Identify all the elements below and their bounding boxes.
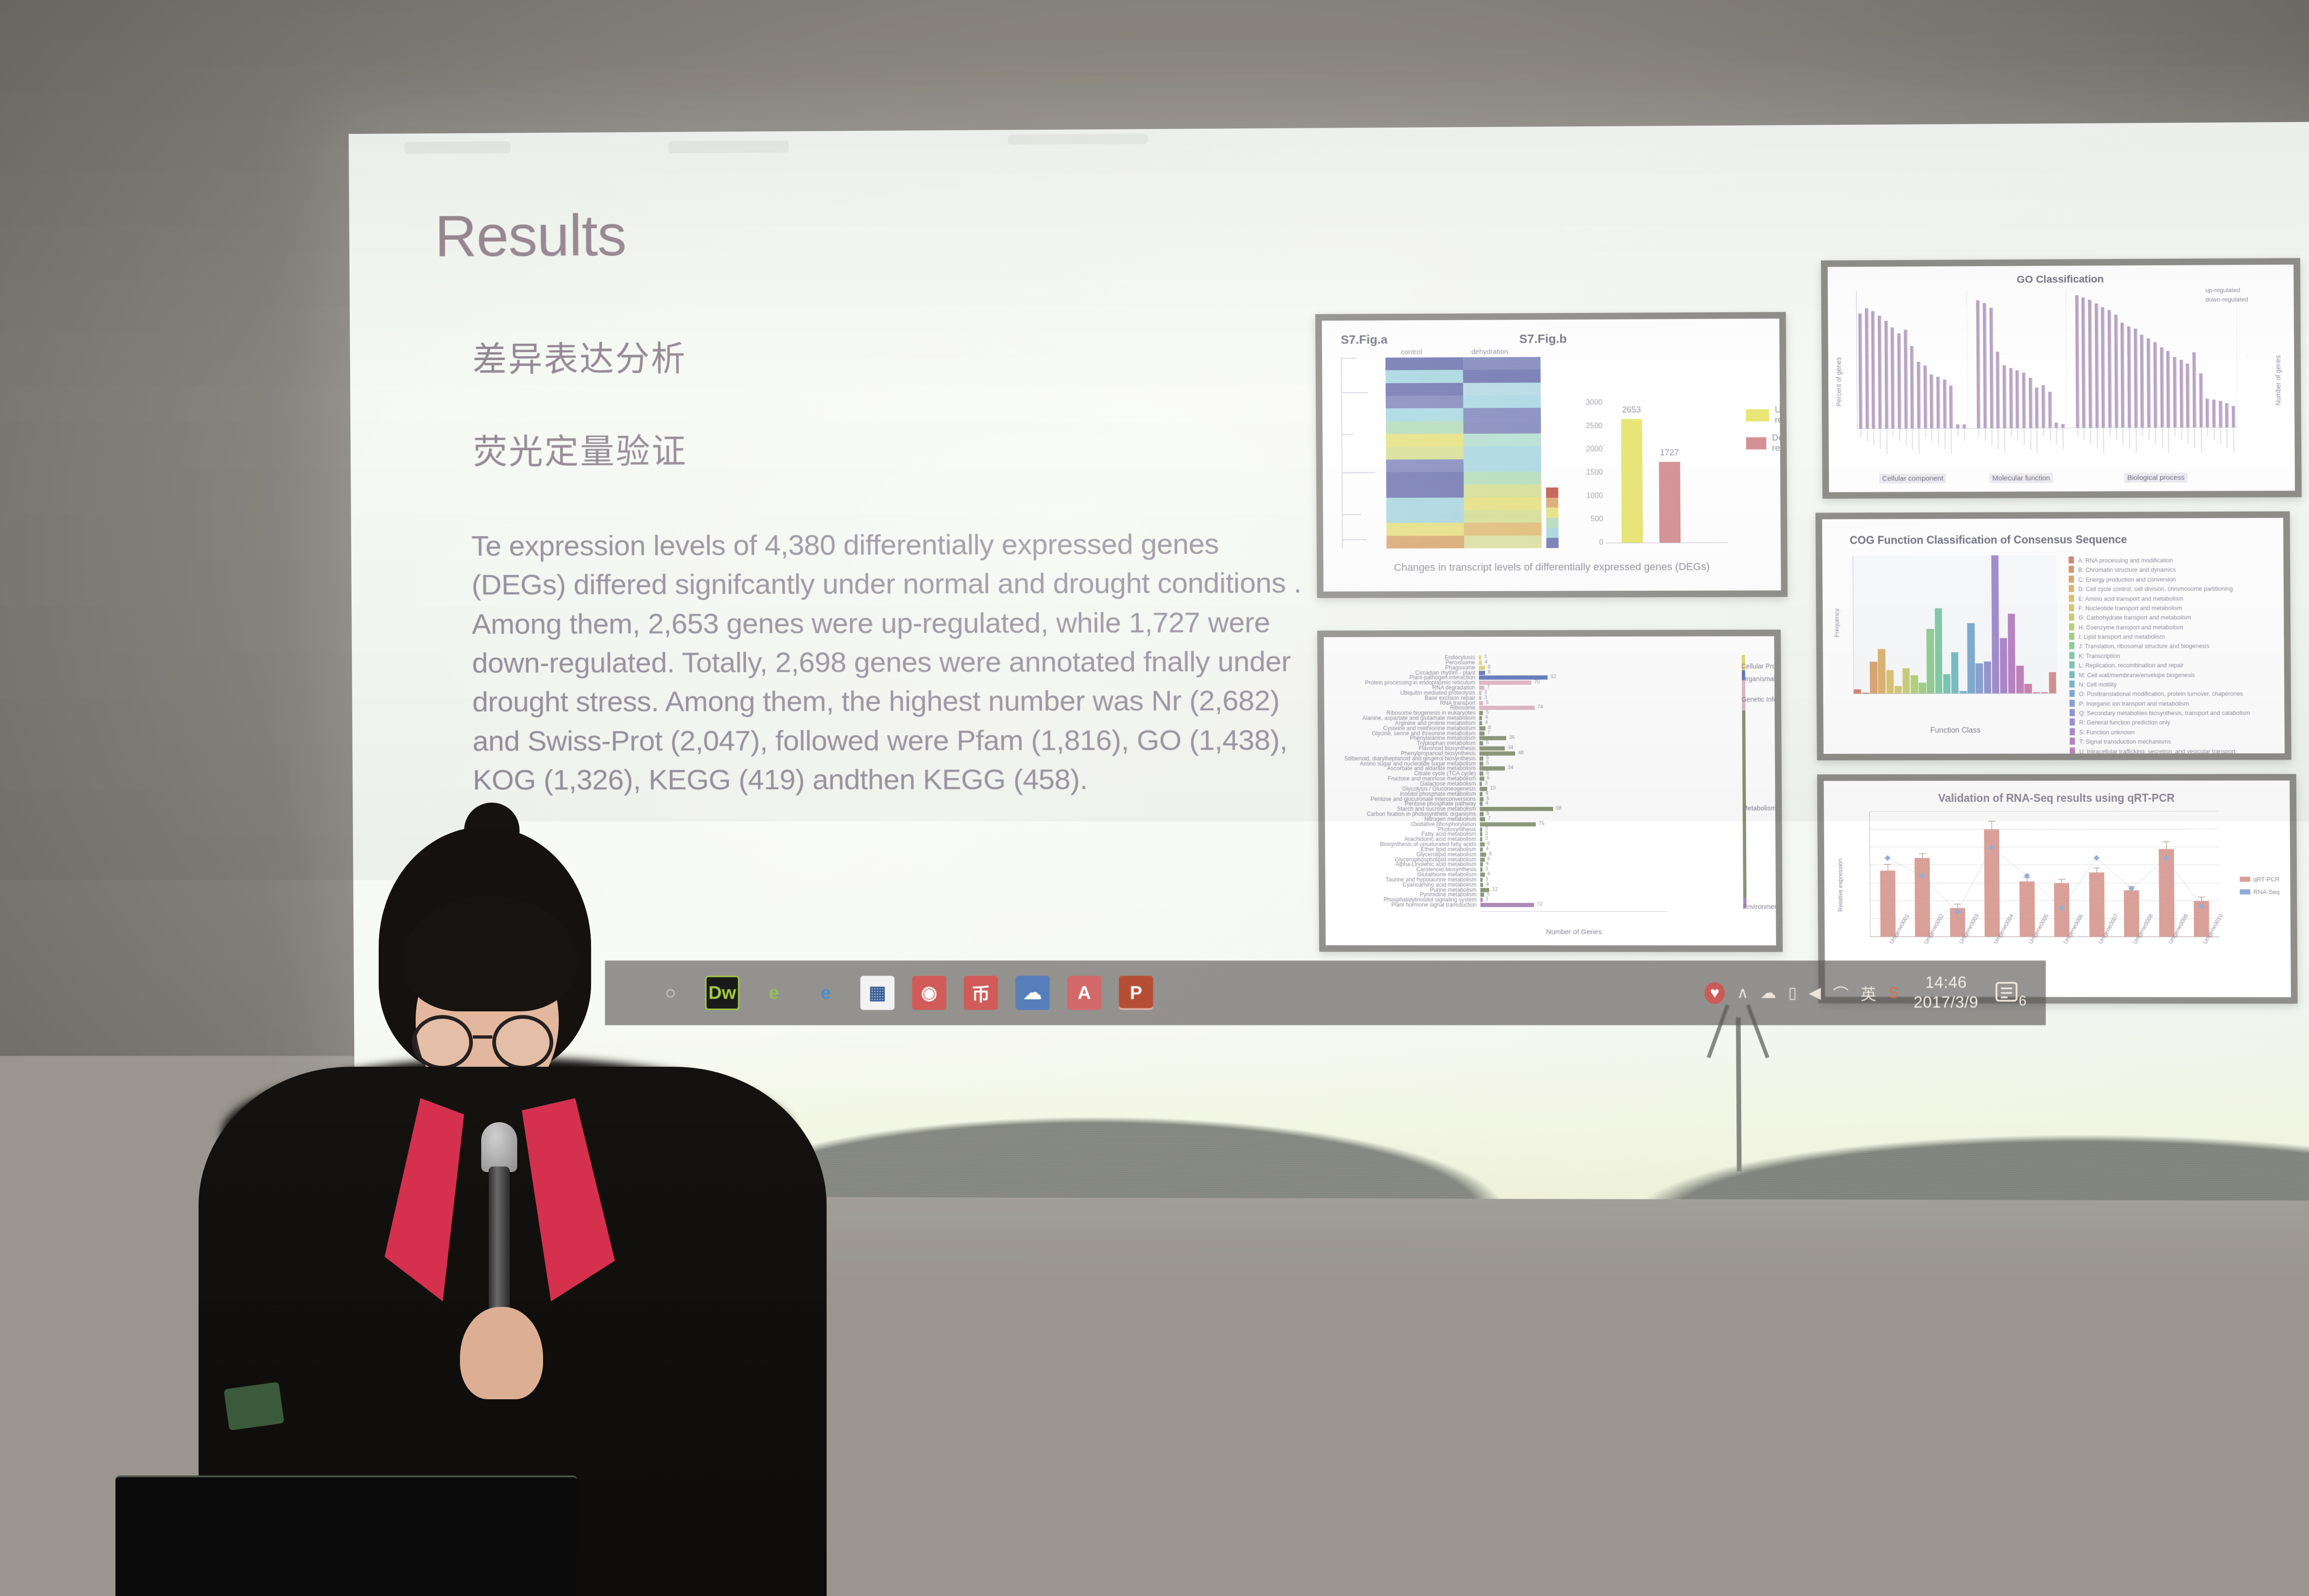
go-bar (2042, 385, 2045, 428)
go-group: Biological process (2073, 289, 2237, 428)
deg-bar: 1727 (1659, 462, 1680, 543)
kegg-row-value: 4 (1486, 791, 1488, 796)
glasses-right-lens (492, 1015, 553, 1070)
cog-y-axis-label: Frequency (1833, 608, 1840, 637)
kegg-row: Glutathione metabolism6 (1480, 873, 1485, 877)
thermos-bottle (2111, 1468, 2185, 1596)
go-tick (2155, 427, 2156, 444)
kegg-row-value: 3 (1485, 826, 1488, 831)
cog-legend-swatch (2069, 575, 2074, 582)
taskbar-clock[interactable]: 14:46 2017/3/9 (1914, 973, 1978, 1012)
go-tick (2005, 428, 2005, 453)
pcr-error-bar (1922, 853, 1922, 858)
cog-legend-item: E: Amino acid transport and metabolism (2069, 594, 2249, 604)
go-bar (1983, 303, 1987, 428)
laptop-lid (115, 1475, 577, 1596)
cog-legend-item: A: RNA processing and modification (2068, 556, 2249, 566)
cog-legend-label: J: Translation, ribosomal structure and … (2079, 641, 2209, 651)
heatmap-cell (1385, 370, 1463, 383)
cog-legend-swatch (2069, 709, 2074, 716)
heartbeat-icon[interactable]: ♥ (1705, 982, 1725, 1004)
pcr-error-cap (1884, 864, 1891, 864)
cog-bar (1854, 689, 1861, 694)
kegg-row-label: Fructose and mannose metabolism (1388, 775, 1476, 782)
kegg-row-value: 75 (1539, 821, 1545, 826)
kegg-row-label: Amino sugar and nucleotide sugar metabol… (1360, 760, 1476, 767)
cog-legend-label: U: Intracellular trafficking, secretion,… (2079, 747, 2236, 756)
go-bar (2232, 406, 2235, 427)
cog-legend-label: K: Transcription (2079, 651, 2120, 661)
pcr-gridline (1870, 918, 2219, 919)
pcr-error-bar (1992, 822, 1992, 829)
cog-bar (1927, 629, 1934, 693)
kegg-row: Carotenoid biosynthesis3 (1480, 868, 1482, 872)
heatmap-cell (1464, 523, 1541, 536)
kegg-row: Endocytosis3 (1479, 655, 1481, 659)
go-tick (1951, 428, 1952, 453)
cog-bar (2008, 614, 2016, 693)
pcr-legend-label: RNA-Seq (2254, 889, 2280, 895)
kegg-row: Circadian rhythm - plant8 (1479, 671, 1485, 675)
kegg-row-label: Biosynthesis of unsaturated fatty acids (1380, 841, 1476, 847)
go-bar (1923, 366, 1927, 428)
go-tick (1978, 428, 1979, 436)
deg-bar-value: 2653 (1622, 405, 1641, 415)
pcr-error-cap (2058, 879, 2065, 879)
kegg-category-label: Environmental Information Processing (1743, 903, 1783, 910)
kegg-row-value: 7 (1487, 684, 1490, 690)
slide-decoration-tree (1736, 1017, 1741, 1172)
hand (460, 1307, 543, 1399)
go-bar (1949, 386, 1953, 428)
sogou-icon[interactable]: S (1888, 984, 1899, 1002)
go-tick (1945, 428, 1945, 449)
kegg-row: Pyrimidine metabolism5 (1481, 893, 1484, 897)
go-tick (2227, 427, 2227, 448)
pcr-data-point (1885, 855, 1891, 861)
powerpoint-icon[interactable]: P (1119, 976, 1153, 1010)
go-tick (2136, 428, 2136, 453)
go-tick (2024, 428, 2025, 445)
cog-legend-label: I: Lipid transport and metabolism (2079, 632, 2165, 642)
cog-bar (1862, 692, 1869, 693)
cog-legend-swatch (2069, 661, 2074, 668)
go-bar (1884, 321, 1888, 429)
pcr-legend-item: qRT-PCR (2240, 876, 2280, 883)
cog-legend-swatch (2069, 652, 2074, 659)
kegg-row-label: Peroxisome (1445, 659, 1475, 665)
kegg-row-label: Ubiquitin mediated proteolysis (1400, 689, 1475, 696)
kegg-row-value: 3 (1485, 831, 1488, 836)
battery-icon[interactable]: ▯ (1788, 984, 1797, 1002)
kegg-row-label: Glycolysis / Gluconeogenesis (1402, 786, 1476, 792)
kegg-row-value: 3 (1484, 654, 1487, 659)
pcr-legend-swatch (2240, 889, 2250, 895)
heatmap-cell (1463, 421, 1541, 434)
heatmap-col-dehydration: dehydration (1471, 348, 1508, 356)
go-tick (2168, 427, 2169, 453)
deg-y-tick: 2000 (1586, 445, 1602, 453)
deg-bar-chart: 050010001500200025003000 26531727 (1604, 403, 1728, 543)
kegg-row: Alpha-Linolenic acid metabolism4 (1480, 863, 1483, 867)
cog-legend-swatch (2069, 633, 2074, 640)
kegg-row: Tryptophan metabolism5 (1479, 741, 1483, 745)
kegg-row-value: 3 (1486, 896, 1488, 902)
pcr-bar (2194, 901, 2210, 937)
kegg-row: Fructose and mannose metabolism6 (1480, 777, 1484, 781)
kegg-category-bar (1742, 655, 1745, 670)
go-section-label: Molecular function (1989, 473, 2053, 484)
go-tick (2149, 428, 2149, 440)
kegg-row: Taurine and hypotaurine metabolism3 (1480, 878, 1482, 882)
go-tick (2129, 428, 2130, 449)
clock-time: 14:46 (1914, 973, 1978, 993)
heatmap-cell (1386, 472, 1464, 485)
pcr-chart-legend: qRT-PCRRNA-Seq (2240, 876, 2280, 901)
kegg-row-value: 5 (1487, 891, 1490, 897)
cog-legend-item: K: Transcription (2069, 651, 2250, 661)
cog-bar (2000, 638, 2007, 694)
pcr-bar (2019, 881, 2035, 937)
go-tick (2188, 427, 2188, 444)
kegg-row-value: 10 (1490, 786, 1496, 791)
wps-icon[interactable]: 币 (964, 976, 998, 1010)
pcr-gridline (1870, 883, 2219, 883)
go-bar (1943, 380, 1946, 429)
weather-icon[interactable]: ☁ (1015, 976, 1050, 1010)
notification-center-icon[interactable]: 6 (1993, 979, 2020, 1006)
cog-chart-legend: A: RNA processing and modificationB: Chr… (2068, 556, 2250, 761)
go-tick (2043, 428, 2044, 436)
cog-legend-label: L: Replication, recombination and repair (2079, 661, 2183, 671)
go-tick (2090, 428, 2091, 445)
heatmap-cell (1386, 421, 1463, 434)
go-section-label: Biological process (2124, 473, 2188, 483)
kegg-row-value: 5 (1486, 770, 1489, 776)
ime-cn-icon[interactable]: 英 (1861, 982, 1876, 1004)
kegg-row: Biosynthesis of unsaturated fatty acids6 (1480, 842, 1485, 846)
cog-bar (1903, 668, 1910, 693)
go-tick (2123, 428, 2123, 445)
kegg-row: Alanine, aspartate and glutamate metabol… (1479, 716, 1482, 720)
pcr-y-axis-label: Relative expression (1837, 858, 1844, 912)
pcr-bar (1984, 829, 2000, 937)
cog-legend-swatch (2069, 595, 2074, 602)
heatmap-cell (1386, 484, 1464, 497)
kegg-row: Phenylpropanoid biosynthesis48 (1480, 751, 1516, 756)
cn-heading-fluorescence-quantification: 荧光定量验证 (473, 423, 687, 474)
go-tick (2142, 428, 2143, 436)
pcr-chart-title: Validation of RNA-Seq results using qRT-… (1824, 792, 2290, 805)
kegg-row-value: 3 (1484, 695, 1487, 700)
pcr-gridline (1870, 847, 2218, 847)
heatmap-cell (1463, 408, 1541, 421)
clock-date: 2017/3/9 (1914, 993, 1978, 1013)
kegg-row-label: RNA transport (1440, 700, 1475, 706)
heatmap-cell (1386, 536, 1464, 549)
cog-legend-swatch (2070, 747, 2075, 754)
go-chart-title: GO Classification (1828, 272, 2294, 286)
go-tick (2233, 427, 2234, 453)
kegg-row-value: 34 (1508, 745, 1514, 750)
go-bar (2048, 392, 2052, 428)
kegg-x-axis-label: Number of Genes (1481, 928, 1668, 936)
cog-legend-label: A: RNA processing and modification (2078, 556, 2173, 565)
netease-music-icon-glyph: ◉ (921, 982, 937, 1004)
deg-y-tick: 3000 (1586, 399, 1602, 407)
pcr-bar (2158, 849, 2174, 937)
pcr-gridline (1871, 936, 2219, 937)
cog-bar (1919, 683, 1926, 694)
go-bar (1930, 375, 1934, 428)
cog-legend-label: F: Nucleotide transport and metabolism (2079, 604, 2182, 613)
kegg-category-bar (1743, 898, 1747, 908)
cog-legend-label: V: Defense mechanisms (2079, 756, 2144, 761)
go-tick (2037, 428, 2037, 453)
cog-legend-label: Q: Secondary metabolites biosynthesis, t… (2079, 708, 2250, 718)
kegg-row-value: 5 (1487, 810, 1489, 816)
a-app-icon-glyph: A (1078, 983, 1091, 1004)
cog-legend-label: H: Coenzyme transport and metabolism (2079, 623, 2183, 632)
microsoft-store-icon-glyph: ▦ (869, 982, 886, 1004)
microsoft-store-icon[interactable]: ▦ (860, 976, 895, 1010)
heatmap-cell (1386, 459, 1463, 472)
kegg-row: Glycerophospholipid metabolism6 (1480, 858, 1485, 862)
pcr-error-cap (1988, 821, 1995, 822)
cog-chart-title: COG Function Classification of Consensus… (1850, 533, 2127, 547)
kegg-row: Ribosome74 (1479, 706, 1535, 710)
pcr-bar (1880, 871, 1896, 937)
cog-legend-item: L: Replication, recombination and repair (2069, 660, 2250, 670)
kegg-row-label: Arachidonic acid metabolism (1404, 836, 1476, 842)
go-bar (1910, 346, 1914, 429)
kegg-row-label: Arginine and proline metabolism (1395, 719, 1475, 726)
go-bar (2108, 310, 2112, 428)
kegg-row: Peroxisome4 (1479, 660, 1482, 665)
wps-icon-glyph: 币 (972, 979, 990, 1006)
go-bar (2193, 352, 2196, 427)
kegg-category-label: Organismal Systems (1741, 675, 1783, 683)
go-tick (1932, 428, 1932, 441)
kegg-row: Purine metabolism12 (1480, 888, 1489, 892)
cog-legend-swatch (2070, 728, 2075, 735)
cog-legend-swatch (2069, 700, 2074, 707)
kegg-row-value: 4 (1486, 800, 1488, 806)
kegg-row-value: 74 (1537, 704, 1543, 710)
deg-bar-value: 1727 (1660, 448, 1679, 458)
heatmap-cell (1464, 484, 1541, 497)
go-tick (1938, 428, 1939, 445)
kegg-row: Plant hormone signal transduction72 (1481, 903, 1534, 907)
netease-music-icon[interactable]: ◉ (912, 976, 946, 1010)
kegg-row-label: Tryptophan metabolism (1417, 740, 1475, 746)
kegg-row-label: Phenylpropanoid biosynthesis (1401, 750, 1475, 756)
go-bar (2003, 365, 2007, 428)
pcr-bar (1950, 908, 1965, 937)
kegg-row-label: Flavonoid biosynthesis (1419, 745, 1476, 751)
cog-bar (1976, 664, 1983, 693)
cog-bar (1870, 662, 1877, 694)
cog-legend-label: T: Signal transduction mechanisms (2079, 737, 2171, 747)
pcr-x-tick-label: Unigene0005 (2027, 913, 2050, 945)
pcr-error-cap (2128, 887, 2135, 887)
powerpoint-icon-glyph: P (1130, 983, 1142, 1004)
pcr-data-point (1954, 909, 1960, 915)
go-bar (2186, 363, 2190, 427)
kegg-row: Phenylalanine metabolism36 (1479, 736, 1506, 740)
pcr-legend-item: RNA-Seq (2240, 889, 2280, 895)
deg-legend-label: Down-regulated (1772, 433, 1788, 453)
kegg-row-label: Glycerophospholipid metabolism (1395, 856, 1476, 863)
go-bar (2114, 315, 2118, 428)
go-bar (2061, 424, 2065, 428)
go-bar (2212, 399, 2216, 427)
kegg-row-value: 48 (1518, 750, 1524, 756)
cog-bar (2033, 692, 2040, 693)
kegg-category-bar (1742, 711, 1747, 898)
a-app-icon[interactable]: A (1067, 976, 1101, 1010)
pcr-data-point (2199, 903, 2205, 909)
cog-legend-label: E: Amino acid transport and metabolism (2078, 594, 2183, 604)
go-bar (2127, 326, 2131, 428)
cog-bar (2041, 692, 2048, 693)
kegg-row-label: Stilbenoid, diarylheptanoid and gingerol… (1344, 755, 1475, 762)
go-tick (1925, 428, 1926, 436)
heatmap-cell (1464, 535, 1541, 548)
kegg-row: Ascorbate and aldarate metabolism34 (1480, 767, 1505, 771)
kegg-row-value: 8 (1488, 725, 1491, 730)
pcr-x-tick-label: Unigene0009 (2167, 913, 2189, 945)
pcr-x-tick-label: Unigene0007 (2097, 913, 2120, 945)
kegg-row: RNA degradation7 (1479, 686, 1484, 690)
heatmap-col-control: control (1401, 348, 1422, 356)
kegg-row-value: 6 (1487, 871, 1490, 877)
go-bar (1956, 424, 1959, 428)
kegg-row: Nitrogen metabolism7 (1480, 817, 1485, 821)
cog-legend-label: N: Cell motility (2079, 680, 2117, 689)
go-group: Cellular component (1856, 290, 1968, 429)
go-bar (2140, 335, 2144, 428)
cog-bar (1943, 674, 1951, 693)
volume-icon[interactable]: ◀ (1809, 984, 1821, 1002)
go-tick (2103, 428, 2104, 453)
kegg-row-label: Glycine, serine and threonine metabolism (1372, 730, 1476, 736)
kegg-row: Cyanoamino acid metabolism4 (1480, 883, 1483, 887)
go-tick (1874, 429, 1874, 445)
kegg-row-value: 3 (1485, 780, 1487, 786)
go-tick (2097, 428, 2097, 449)
heatmap-cell (1463, 459, 1541, 472)
go-tick (2201, 427, 2201, 453)
kegg-row: Cysteine and methionine metabolism8 (1479, 726, 1485, 730)
go-bar (2009, 368, 2013, 428)
cog-legend-item: O: Posttranslational modification, prote… (2069, 689, 2250, 699)
kegg-row: Amino sugar and nucleotide sugar metabol… (1480, 762, 1483, 766)
cog-legend-label: R: General function prediction only (2079, 718, 2170, 728)
kegg-row: Pentose phosphate pathway4 (1480, 802, 1483, 806)
go-bar (1977, 301, 1981, 428)
kegg-row-value: 6 (1487, 775, 1490, 781)
go-bar (1891, 327, 1895, 428)
go-tick (2084, 428, 2084, 440)
cog-legend-label: G: Carbohydrate transport and metabolism (2079, 613, 2191, 623)
kegg-row-value: 4 (1485, 659, 1487, 665)
kegg-row: Phosphatidylinositol signaling system3 (1481, 898, 1483, 902)
bottle-cap (2111, 1468, 2185, 1506)
go-tick (2207, 427, 2208, 435)
go-tick (2162, 427, 2162, 448)
heatmap-legend-swatch (1546, 518, 1559, 528)
go-bar (2166, 351, 2170, 427)
cog-x-axis-label: Function Class (1854, 726, 2057, 735)
pcr-data-point (2163, 855, 2169, 861)
go-bar (1871, 311, 1875, 428)
wifi-icon[interactable]: ⌒ (1833, 982, 1849, 1004)
kegg-row: Fatty acid metabolism3 (1480, 832, 1482, 836)
go-tick (2050, 428, 2050, 440)
pcr-bar (2089, 872, 2104, 937)
go-tick (1899, 429, 1900, 441)
pcr-data-point (2128, 885, 2134, 891)
go-tick (1867, 429, 1868, 441)
go-tick (2077, 428, 2078, 436)
go-bar (2180, 360, 2183, 427)
show-hidden-icons[interactable]: ∧ (1737, 984, 1748, 1002)
kegg-row: Base excision repair3 (1479, 696, 1481, 700)
pcr-error-cap (2023, 877, 2030, 878)
heatmap-cell (1386, 434, 1463, 447)
kegg-row: Phagosome8 (1479, 665, 1485, 670)
go-tick (1958, 428, 1958, 436)
kegg-row-label: Ribosome biogenesis in eukaryotes (1386, 710, 1475, 716)
cog-bar (1991, 555, 2000, 693)
kegg-row-label: Plant hormone signal transduction (1391, 901, 1477, 908)
heatmap-cell (1463, 433, 1541, 446)
heatmap-cell (1386, 510, 1464, 523)
pcr-rnaseq-line (1870, 811, 2219, 937)
go-bar (2160, 347, 2164, 428)
kegg-row: Photosynthesis3 (1480, 827, 1482, 831)
deg-chart-legend: Up-regulatedDown-regulated (1746, 405, 1788, 461)
kegg-row-value: 3 (1485, 866, 1488, 872)
kegg-row-value: 92 (1551, 674, 1557, 680)
go-tick (1912, 428, 1913, 449)
go-bar (2134, 328, 2138, 427)
pcr-error-bar (1887, 864, 1888, 871)
kegg-row-value: 8 (1489, 851, 1492, 857)
heatmap-legend-swatch (1546, 508, 1559, 518)
kegg-row-value: 4 (1486, 861, 1489, 867)
go-bar (2199, 373, 2203, 427)
sleeve-patch (224, 1382, 284, 1431)
pcr-data-point (2024, 873, 2030, 879)
heatmap-legend-swatch (1546, 487, 1559, 497)
heatmap-cell (1463, 370, 1541, 383)
go-bar (2016, 370, 2019, 428)
heatmap-cell (1385, 357, 1463, 370)
onedrive-icon[interactable]: ☁ (1760, 984, 1776, 1002)
go-tick (2011, 428, 2012, 436)
deg-figure-caption: Changes in transcript levels of differen… (1324, 561, 1781, 574)
kegg-row-label: Fatty acid metabolism (1421, 831, 1476, 837)
go-bar (2035, 388, 2039, 428)
pcr-x-tick-label: Unigene0006 (2062, 913, 2085, 945)
deg-legend-label: Up-regulated (1775, 405, 1788, 426)
go-group: Molecular function (1975, 290, 2067, 428)
kegg-row-label: Purine metabolism (1430, 886, 1476, 893)
cog-legend-item: F: Nucleotide transport and metabolism (2069, 603, 2249, 613)
go-bar (1963, 424, 1966, 428)
